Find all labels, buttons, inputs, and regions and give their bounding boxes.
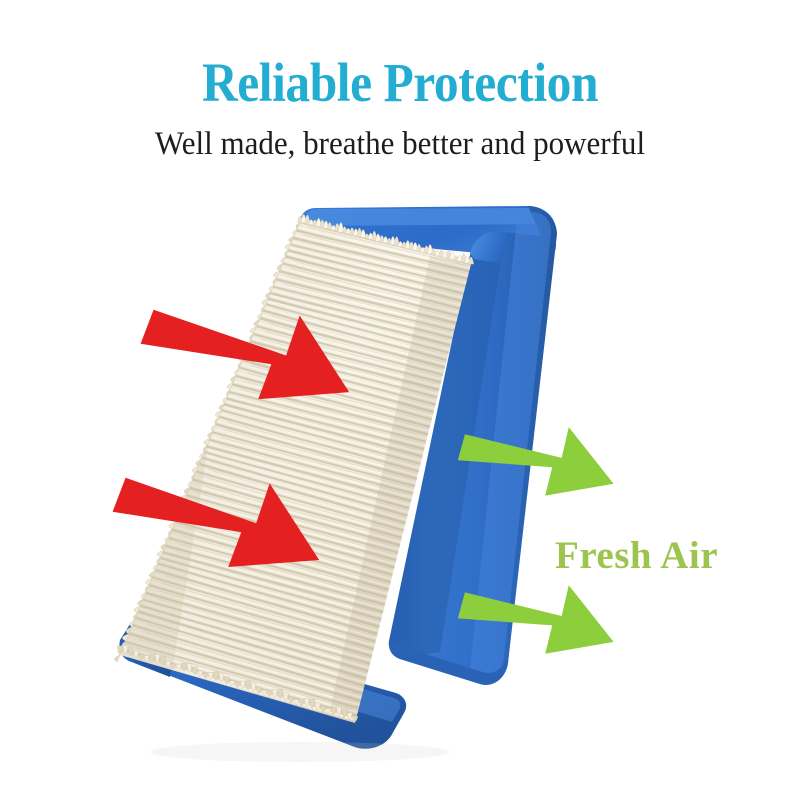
product-contact-shadow — [150, 742, 450, 762]
fresh-air-label: Fresh Air — [555, 534, 718, 578]
page-title: Reliable Protection — [40, 52, 760, 114]
page-subtitle: Well made, breathe better and powerful — [24, 124, 776, 164]
marketing-image: Reliable Protection Well made, breathe b… — [0, 0, 800, 800]
product-photo — [0, 0, 800, 800]
filter-frame-top-highlight — [306, 208, 548, 226]
